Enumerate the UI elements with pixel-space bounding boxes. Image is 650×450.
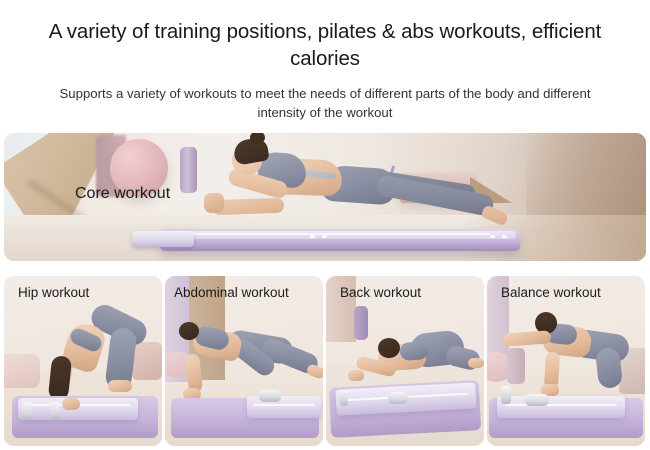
thumb1-board-handle	[22, 402, 32, 420]
thumb3-board-carriage	[388, 392, 408, 404]
thumb1-model-foot	[108, 380, 132, 392]
thumb2-board-carriage	[259, 390, 281, 402]
thumb4-board-handle	[501, 386, 511, 404]
thumb4-product-board	[497, 396, 625, 418]
thumb4-photo	[487, 276, 645, 446]
hero-board-rail	[190, 233, 490, 235]
thumb2-board-rail	[253, 404, 315, 406]
thumb3-prop-bottle	[354, 306, 368, 340]
hero-board-marker	[310, 235, 315, 238]
hero-board-marker	[322, 235, 327, 238]
thumb4-board-carriage	[525, 394, 549, 406]
thumbnail-back-workout: Back workout	[326, 276, 484, 446]
page-title: A variety of training positions, pilates…	[0, 0, 650, 72]
thumbnail-balance-workout: Balance workout	[487, 276, 645, 446]
hero-image-core-workout: Core workout	[4, 133, 646, 261]
hero-prop-foam-roller	[180, 147, 197, 193]
thumb2-model-head	[179, 322, 199, 340]
thumb1-prop-cushion	[4, 354, 40, 388]
thumb3-model-sports-bra	[399, 341, 428, 361]
hero-board-carriage	[132, 231, 194, 247]
thumb3-model-hand	[348, 370, 364, 381]
thumb3-model-head	[378, 338, 400, 358]
thumb4-board-rail	[505, 404, 617, 406]
header: A variety of training positions, pilates…	[0, 0, 650, 130]
hero-product-board	[160, 229, 520, 251]
thumb3-photo	[326, 276, 484, 446]
thumbnail-label: Hip workout	[18, 285, 89, 300]
thumb3-board-handle	[340, 390, 348, 406]
page-subtitle: Supports a variety of workouts to meet t…	[0, 72, 650, 122]
hero-model-hands	[204, 193, 224, 213]
thumb1-photo	[4, 276, 162, 446]
thumbnail-hip-workout: Hip workout	[4, 276, 162, 446]
hero-board-marker	[502, 235, 507, 238]
thumb1-model-hand	[62, 398, 80, 410]
thumbnail-label: Balance workout	[501, 285, 601, 300]
hero-board-marker	[490, 235, 495, 238]
thumbnail-abdominal-workout: Abdominal workout	[165, 276, 323, 446]
thumbnail-label: Back workout	[340, 285, 421, 300]
thumb3-model-foot	[468, 358, 484, 368]
thumb2-photo	[165, 276, 323, 446]
thumb4-model-support-arm	[544, 352, 560, 389]
thumb2-product-board	[247, 396, 321, 418]
thumb1-board-handle	[50, 402, 60, 420]
thumb1-prop-ottoman	[132, 342, 162, 380]
thumb4-prop-roller	[507, 348, 525, 384]
thumbnail-label: Abdominal workout	[174, 285, 289, 300]
product-feature-page: A variety of training positions, pilates…	[0, 0, 650, 450]
hero-label: Core workout	[75, 185, 170, 203]
